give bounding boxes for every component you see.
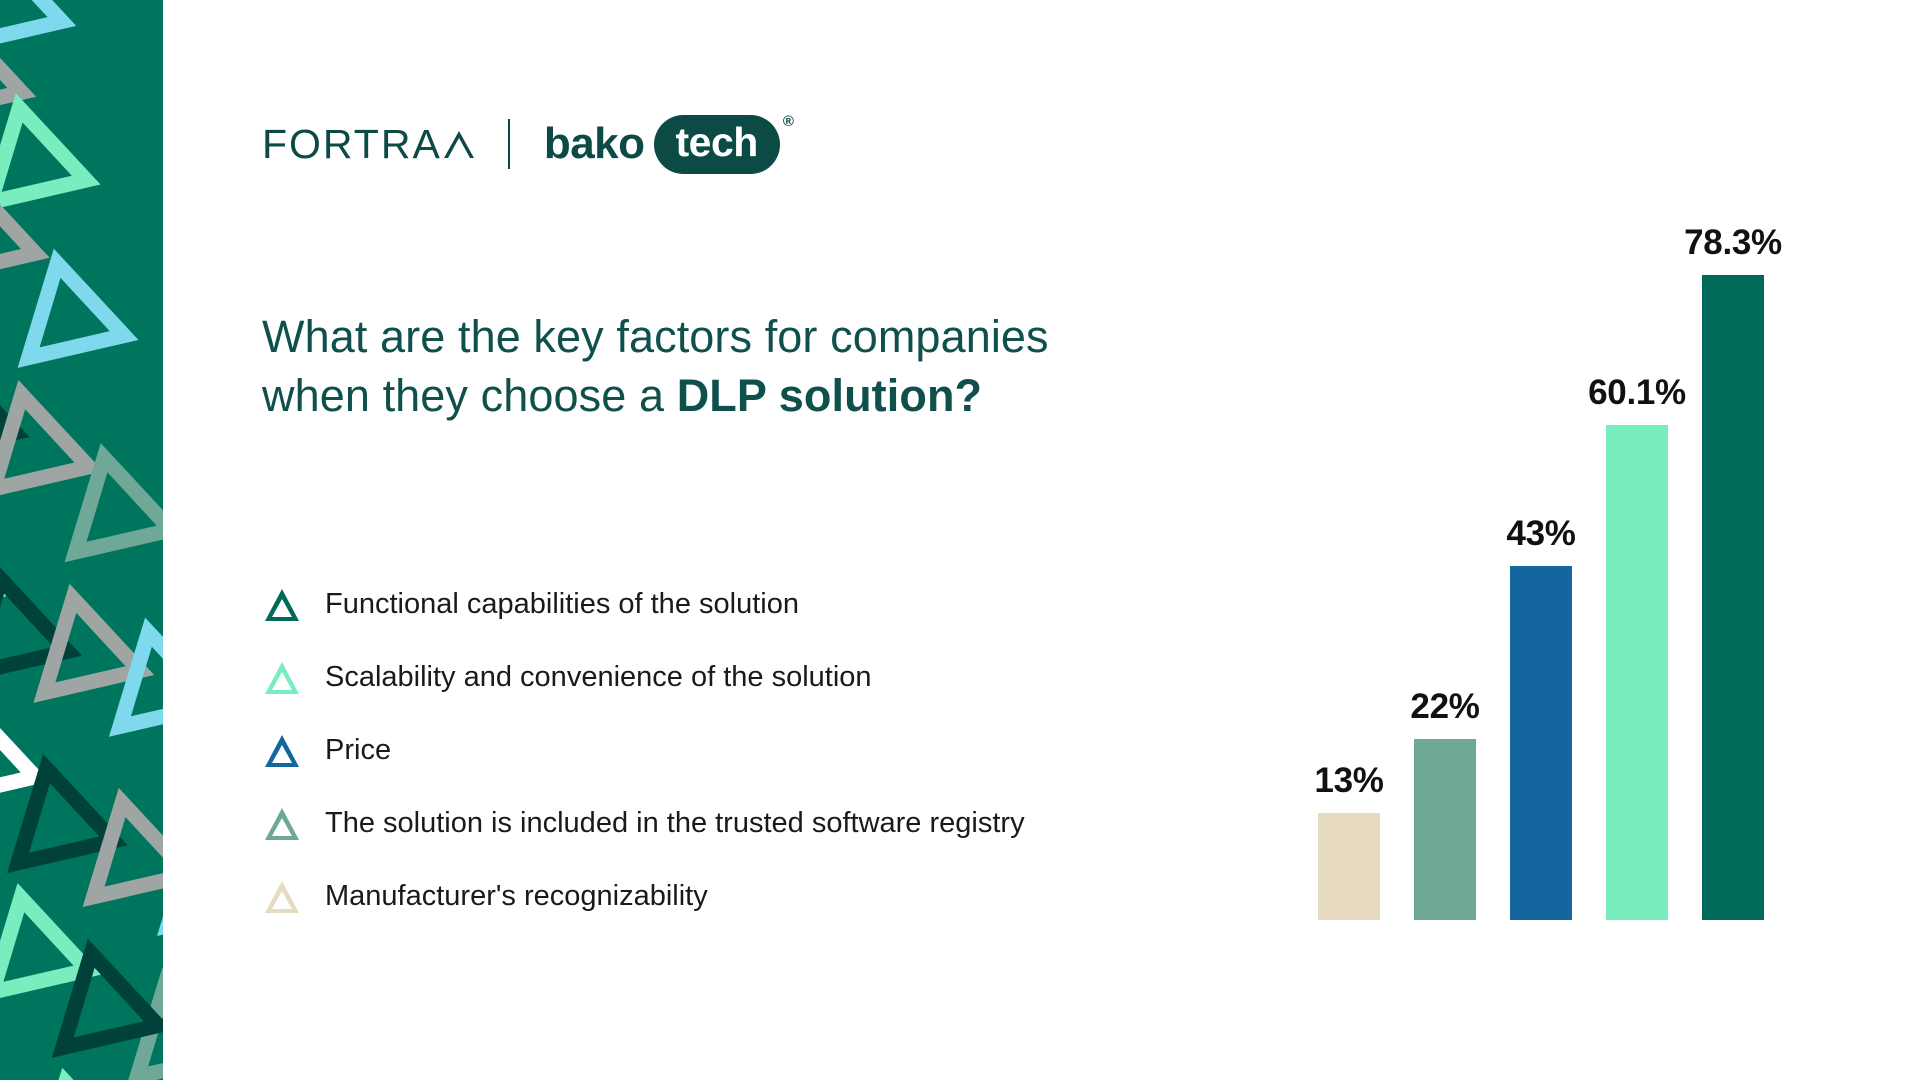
triangle-outline-icon [262, 878, 302, 916]
bar-rect [1510, 566, 1572, 920]
legend-item-label: Price [325, 735, 391, 767]
bar-value-label: 13% [1284, 761, 1414, 801]
bakotech-logo[interactable]: bako tech ® [544, 115, 794, 174]
legend-item-label: Functional capabilities of the solution [325, 589, 799, 621]
headline-line-1: What are the key factors for companies [262, 311, 1049, 362]
triangle-outline-icon [262, 805, 302, 843]
triangle-outline-icon [262, 659, 302, 697]
tech-pill-badge: tech [654, 115, 780, 174]
legend-item-price[interactable]: Price [262, 714, 1292, 787]
registered-trademark-icon: ® [783, 113, 794, 130]
page-title: What are the key factors for companies w… [262, 308, 1202, 425]
bar-value-label: 22% [1380, 687, 1510, 727]
legend-item-label: Manufacturer's recognizability [325, 881, 708, 913]
brand-logo-row: FORTRA bako tech ® [262, 118, 794, 170]
bar-chart: 13% 22% 43% 60.1% 78.3% [1300, 200, 1860, 920]
headline-line-2-plain: when they choose a [262, 370, 677, 421]
legend-item-trusted-registry[interactable]: The solution is included in the trusted … [262, 787, 1292, 860]
legend-item-manufacturer-recognizability[interactable]: Manufacturer's recognizability [262, 860, 1292, 933]
chart-legend: Functional capabilities of the solution … [262, 568, 1292, 933]
legend-item-label: Scalability and convenience of the solut… [325, 662, 872, 694]
fortra-logo[interactable]: FORTRA [262, 124, 474, 165]
bako-wordmark: bako [544, 122, 645, 166]
fortra-wordmark: FORTRA [262, 124, 442, 165]
slide-canvas: FORTRA bako tech ® What are the key fact… [0, 0, 1920, 1080]
decorative-triangle-pattern [0, 0, 163, 1080]
headline-line-2-bold: DLP solution? [677, 370, 982, 421]
triangle-outline-icon [444, 131, 474, 158]
legend-item-scalability[interactable]: Scalability and convenience of the solut… [262, 641, 1292, 714]
bar-rect [1606, 425, 1668, 920]
legend-item-functional-capabilities[interactable]: Functional capabilities of the solution [262, 568, 1292, 641]
bar-rect [1318, 813, 1380, 920]
bar-value-label: 60.1% [1572, 373, 1702, 413]
bar-rect [1414, 739, 1476, 920]
legend-item-label: The solution is included in the trusted … [325, 808, 1025, 840]
bar-rect [1702, 275, 1764, 920]
logo-divider [508, 119, 510, 169]
triangle-outline-icon [262, 732, 302, 770]
bar-value-label: 43% [1476, 514, 1606, 554]
triangle-outline-icon [262, 586, 302, 624]
bar-value-label: 78.3% [1668, 223, 1798, 263]
